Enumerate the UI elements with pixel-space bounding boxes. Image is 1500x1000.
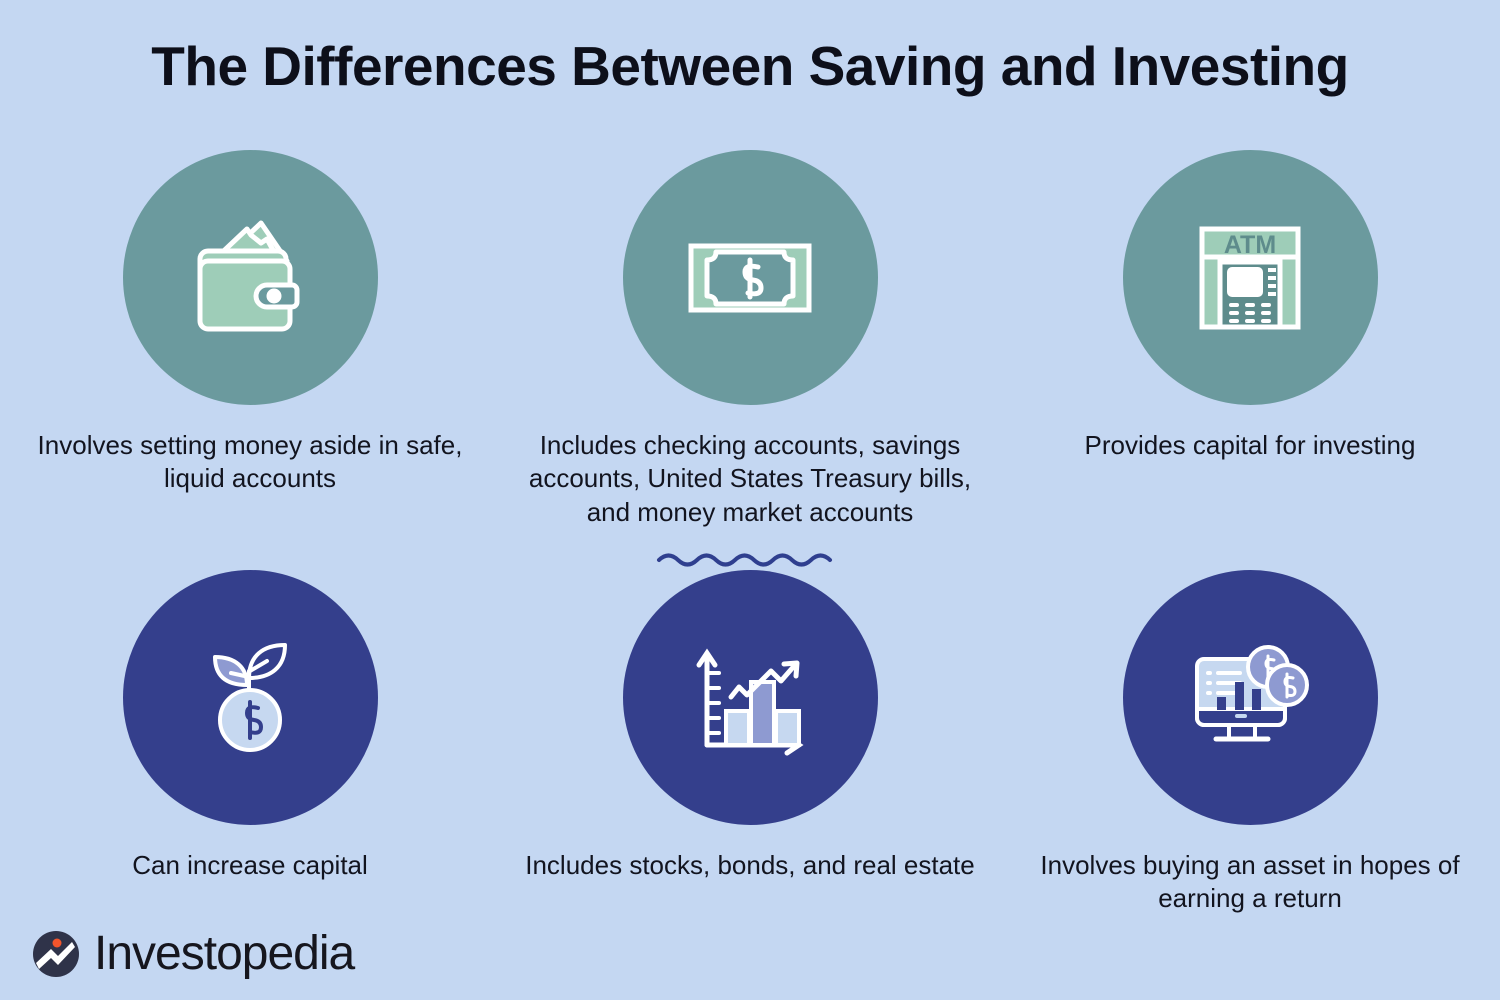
investing-item-plant: Can increase capital <box>0 570 500 970</box>
investopedia-logo[interactable]: Investopedia <box>32 930 354 978</box>
logo-wordmark: Investopedia <box>94 930 354 978</box>
investing-item-monitor: Involves buying an asset in hopes of ear… <box>1000 570 1500 970</box>
monitor-chart-coins-icon <box>1175 623 1325 773</box>
caption-text: Provides capital for investing <box>1075 429 1426 462</box>
investing-item-bar-chart: Includes stocks, bonds, and real estate <box>500 570 1000 970</box>
content-grid: Involves setting money aside in safe, li… <box>0 150 1500 970</box>
saving-row: Involves setting money aside in safe, li… <box>0 150 1500 570</box>
saving-item-wallet: Involves setting money aside in safe, li… <box>0 150 500 570</box>
atm-icon: ATM <box>1175 203 1325 353</box>
icon-circle-teal: ATM <box>1123 150 1378 405</box>
caption-text: Includes stocks, bonds, and real estate <box>515 849 985 882</box>
bar-chart-growth-icon <box>675 623 825 773</box>
wallet-icon <box>175 203 325 353</box>
saving-item-dollar-bill: Includes checking accounts, savings acco… <box>500 150 1000 570</box>
icon-circle-navy <box>623 570 878 825</box>
page-title: The Differences Between Saving and Inves… <box>0 36 1500 97</box>
icon-circle-teal <box>623 150 878 405</box>
investopedia-logo-mark <box>32 930 80 978</box>
investing-row: Can increase capital <box>0 570 1500 970</box>
caption-text: Can increase capital <box>122 849 378 882</box>
growing-plant-coin-icon <box>175 623 325 773</box>
atm-label: ATM <box>1224 231 1276 259</box>
caption-text: Involves setting money aside in safe, li… <box>15 429 485 496</box>
caption-text: Includes checking accounts, savings acco… <box>500 429 1000 529</box>
icon-circle-teal <box>123 150 378 405</box>
caption-text: Involves buying an asset in hopes of ear… <box>1015 849 1485 916</box>
icon-circle-navy <box>123 570 378 825</box>
dollar-bill-icon <box>675 203 825 353</box>
icon-circle-navy <box>1123 570 1378 825</box>
infographic-page: The Differences Between Saving and Inves… <box>0 0 1500 1000</box>
saving-item-atm: ATM <box>1000 150 1500 570</box>
